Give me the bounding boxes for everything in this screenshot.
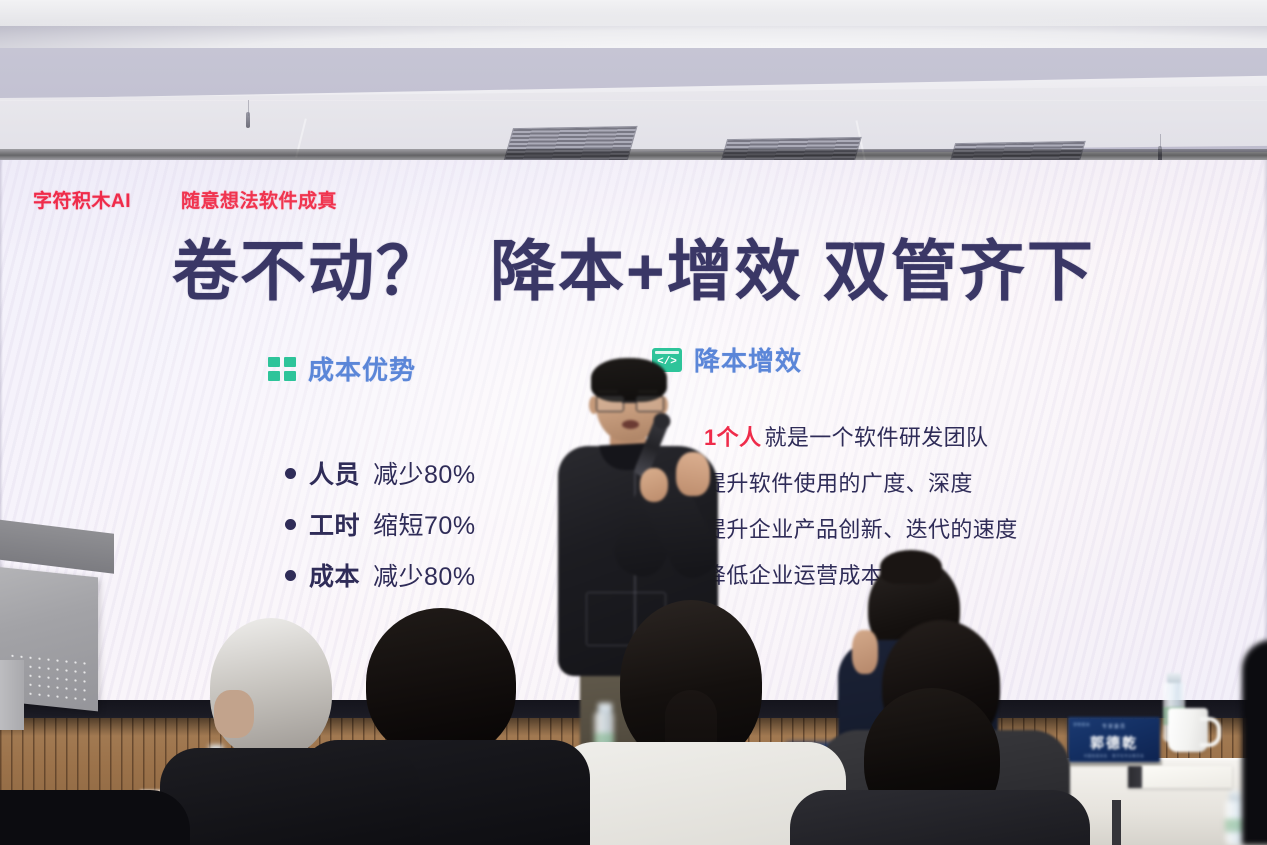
glasses-icon bbox=[596, 396, 662, 410]
photo-scene: 字符积木AI 随意想法软件成真 卷不动？降本+增效 双管齐下 成本优势 人员 减… bbox=[0, 0, 1267, 845]
audience-ear bbox=[214, 690, 254, 738]
bullet-key: 人员 bbox=[309, 455, 360, 491]
slide-brand-row: 字符积木AI 随意想法软件成真 bbox=[33, 186, 337, 213]
nameplate-guo: 字符积木 专家委员 郭德乾 中国信息协会 · 数字化专业委员会 bbox=[1068, 717, 1160, 762]
list-item: 工时 缩短70% bbox=[285, 506, 476, 542]
notebook bbox=[1128, 766, 1232, 788]
slide-title-part1: 卷不动？ bbox=[172, 234, 444, 308]
presenter-hand-right bbox=[676, 452, 710, 496]
slide-title-part2: 降本+增效 双管齐下 bbox=[490, 234, 1095, 308]
audience-far-left bbox=[0, 790, 190, 845]
audience-hair-bun bbox=[880, 550, 942, 584]
brand-name: 字符积木AI bbox=[33, 186, 131, 213]
presenter-hand-left bbox=[640, 468, 668, 502]
bullet-value: 减少80% bbox=[373, 455, 476, 491]
ceiling-curve-highlight bbox=[0, 0, 1267, 48]
lectern-stem bbox=[0, 660, 24, 730]
nameplate-footer: 中国信息协会 · 数字化专业委员会 bbox=[1068, 754, 1160, 759]
slide-bullets-left: 人员 减少80% 工时 缩短70% 成本 减少80% bbox=[285, 455, 476, 608]
ceiling-seam-horizontal bbox=[0, 100, 1267, 101]
bullet-dot-icon bbox=[285, 468, 296, 479]
ceramic-mug bbox=[1168, 708, 1208, 752]
ceiling-wire bbox=[248, 100, 249, 116]
bullet-value: 提升软件使用的广度、深度 bbox=[704, 466, 973, 498]
presenter-eyebrow-right bbox=[638, 390, 658, 393]
audience-hand bbox=[852, 630, 878, 674]
bullet-key: 工时 bbox=[309, 506, 360, 542]
bullet-value: 减少80% bbox=[373, 557, 476, 593]
audience-body bbox=[790, 790, 1090, 845]
ceiling-wire bbox=[1160, 134, 1161, 148]
nameplate-role: 专家委员 bbox=[1068, 723, 1160, 730]
brand-tagline: 随意想法软件成真 bbox=[181, 186, 337, 213]
bullet-value: 提升企业产品创新、迭代的速度 bbox=[704, 512, 1018, 544]
section-label-cost-advantage: 成本优势 bbox=[308, 350, 416, 387]
presenter-eyebrow-left bbox=[598, 390, 618, 393]
bullet-value: 缩短70% bbox=[373, 506, 476, 542]
bullet-dot-icon bbox=[285, 570, 296, 581]
table-leg bbox=[1112, 800, 1121, 845]
bullet-value: 就是一个软件研发团队 bbox=[764, 420, 988, 452]
list-item: 成本 减少80% bbox=[285, 557, 476, 593]
list-item: 人员 减少80% bbox=[285, 455, 476, 491]
audience-far-right bbox=[1242, 640, 1267, 845]
nameplate-name: 郭德乾 bbox=[1068, 733, 1160, 753]
audience-body bbox=[160, 748, 420, 845]
grid-icon bbox=[268, 357, 296, 381]
slide-section-cost-advantage: 成本优势 bbox=[268, 350, 416, 387]
bullet-dot-icon bbox=[285, 519, 296, 530]
presenter-mouth bbox=[622, 420, 639, 429]
slide-title: 卷不动？降本+增效 双管齐下 bbox=[0, 238, 1267, 304]
audience-head bbox=[366, 608, 516, 758]
bullet-key: 成本 bbox=[309, 557, 360, 593]
